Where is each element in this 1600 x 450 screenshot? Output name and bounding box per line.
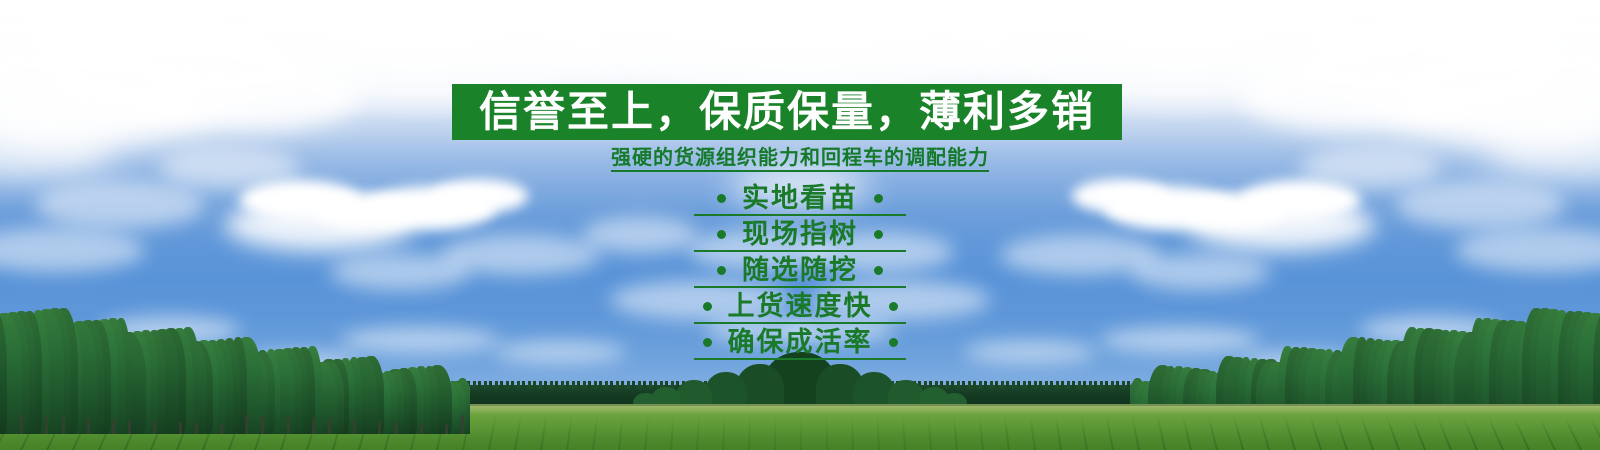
dot-bullet-icon (717, 230, 726, 239)
dot-bullet-icon (889, 338, 898, 347)
tree-trunk (328, 419, 331, 434)
feature-label: 随选随挖 (742, 257, 858, 284)
tree-trunk (195, 423, 198, 434)
tree-trunk (112, 419, 115, 434)
tree-trunk (353, 420, 356, 434)
tree-trunk (153, 421, 156, 434)
tree-trunk (312, 418, 315, 434)
feature-label: 实地看苗 (742, 185, 858, 212)
tree-trunk (45, 416, 48, 434)
tree-trunk (261, 416, 264, 434)
tree-trunk (461, 415, 464, 434)
tree-trunk (87, 418, 90, 434)
promo-banner: 信誉至上，保质保量，薄利多销 强硬的货源组织能力和回程车的调配能力 实地看苗现场… (0, 0, 1600, 450)
feature-label: 确保成活率 (728, 329, 873, 356)
dot-bullet-icon (874, 230, 883, 239)
tree-trunk (220, 424, 223, 434)
tree-trunk (245, 415, 248, 434)
tree-trunk (287, 417, 290, 434)
feature-label: 现场指树 (742, 221, 858, 248)
tree-trunk (128, 420, 131, 434)
feature-row: 现场指树 (0, 216, 1600, 252)
dot-bullet-icon (889, 302, 898, 311)
dot-bullet-icon (717, 194, 726, 203)
dot-bullet-icon (874, 266, 883, 275)
tree-trunk (395, 422, 398, 434)
dot-bullet-icon (703, 302, 712, 311)
feature-row: 实地看苗 (0, 180, 1600, 216)
dot-bullet-icon (874, 194, 883, 203)
tree-trunk (20, 415, 23, 434)
feature-divider (694, 358, 906, 360)
tree-trunk (62, 417, 65, 434)
feature-row: 随选随挖 (0, 252, 1600, 288)
tree-trunk (445, 424, 448, 434)
tree-trunk (420, 423, 423, 434)
subtitle-row: 强硬的货源组织能力和回程车的调配能力 (0, 146, 1600, 172)
feature-row: 上货速度快 (0, 288, 1600, 324)
headline-text: 信誉至上，保质保量，薄利多销 (479, 91, 1095, 133)
headline-banner: 信誉至上，保质保量，薄利多销 (452, 84, 1122, 140)
dot-bullet-icon (703, 338, 712, 347)
subtitle-text: 强硬的货源组织能力和回程车的调配能力 (611, 146, 989, 172)
feature-label: 上货速度快 (728, 293, 873, 320)
dot-bullet-icon (717, 266, 726, 275)
feature-list: 实地看苗现场指树随选随挖上货速度快确保成活率 (0, 180, 1600, 360)
tree-trunk (179, 422, 182, 434)
tree-trunk (378, 421, 381, 434)
